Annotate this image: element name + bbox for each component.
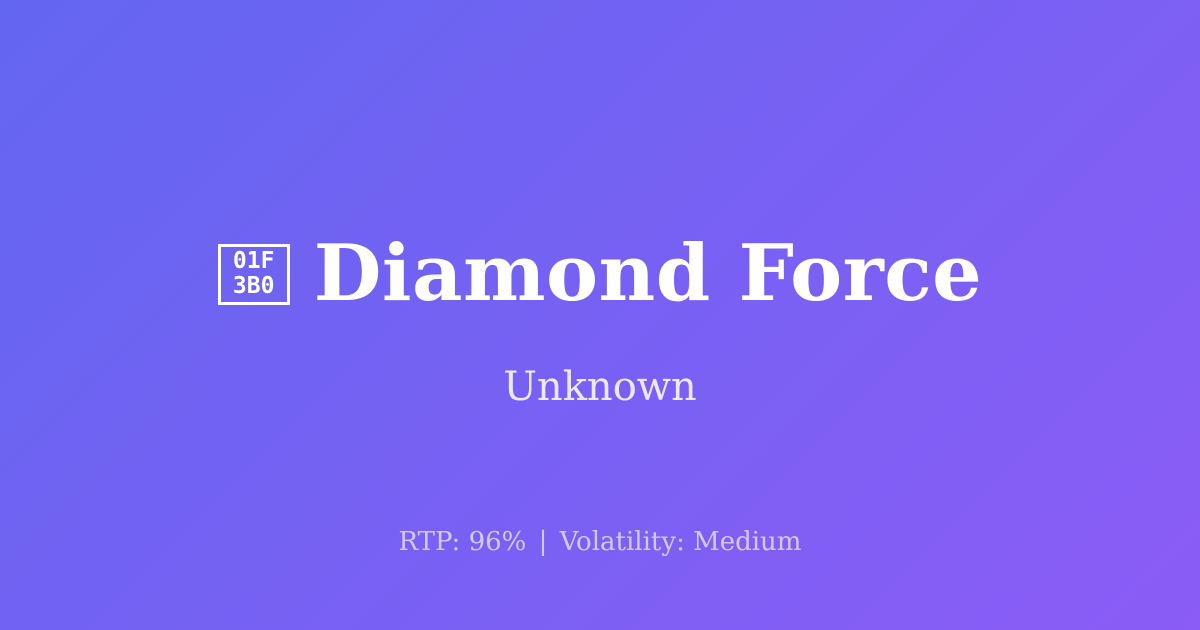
page-title: Diamond Force (314, 232, 983, 316)
slot-machine-icon: 01F 3B0 (218, 244, 290, 305)
game-preview-card: 01F 3B0 Diamond Force Unknown RTP: 96% |… (0, 0, 1200, 630)
volatility-value: Medium (693, 527, 801, 557)
slot-machine-icon-hex-top: 01F (233, 249, 275, 274)
game-stats-footer: RTP: 96% | Volatility: Medium (0, 526, 1200, 558)
stats-separator: | (535, 527, 552, 557)
slot-machine-icon-hex-bottom: 3B0 (233, 274, 275, 299)
volatility-label: Volatility: (560, 527, 685, 557)
title-row: 01F 3B0 Diamond Force (0, 232, 1200, 316)
rtp-label: RTP: (399, 527, 461, 557)
game-provider-subtitle: Unknown (0, 363, 1200, 411)
rtp-value: 96% (469, 527, 527, 557)
